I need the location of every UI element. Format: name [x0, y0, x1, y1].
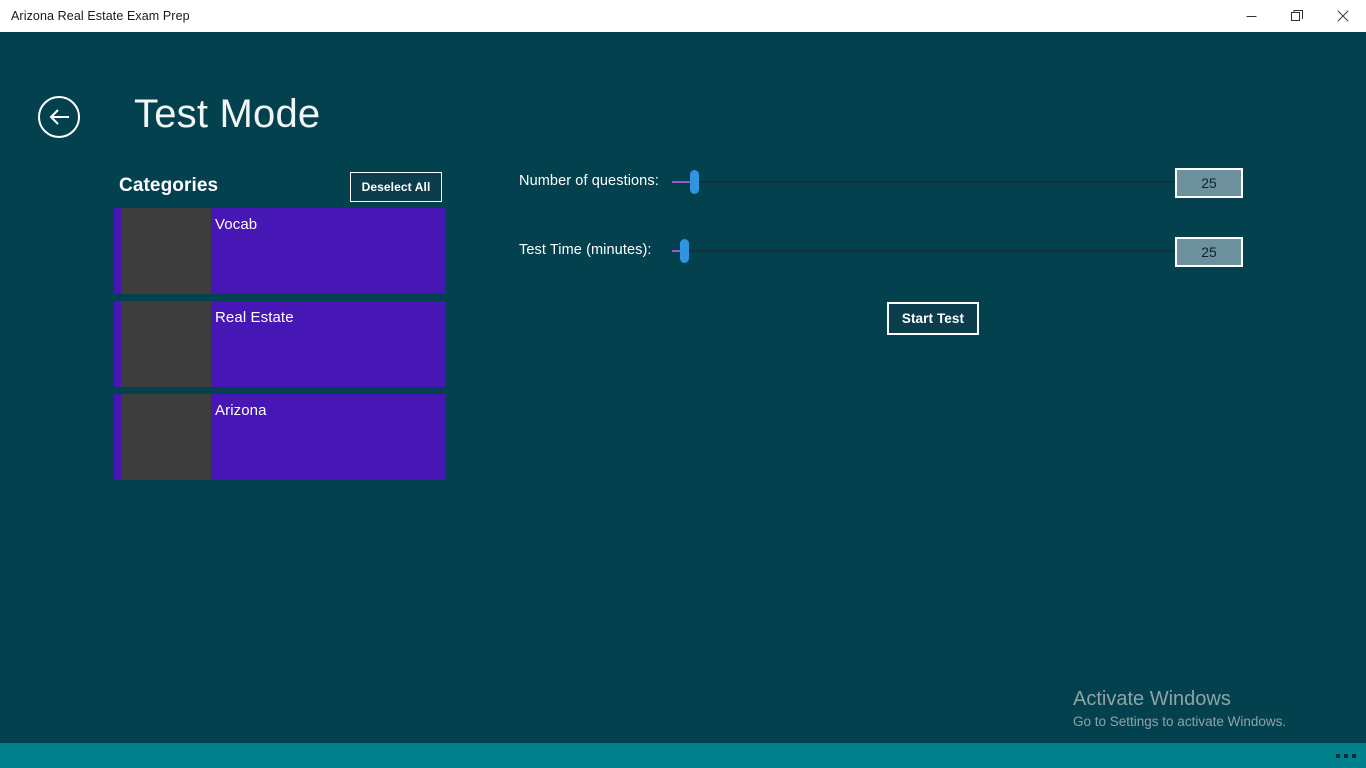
window-title: Arizona Real Estate Exam Prep [0, 9, 190, 23]
maximize-button[interactable] [1274, 0, 1320, 32]
restore-icon [1291, 10, 1303, 22]
watermark-subtitle: Go to Settings to activate Windows. [1073, 712, 1343, 732]
ellipsis-icon [1336, 754, 1340, 758]
category-thumbnail [121, 208, 211, 294]
test-time-slider[interactable] [672, 229, 1175, 273]
minimize-button[interactable] [1228, 0, 1274, 32]
slider-track [672, 250, 1175, 252]
category-item[interactable]: Real Estate [114, 301, 446, 387]
categories-list: Vocab Real Estate Arizona [114, 208, 446, 487]
page-title: Test Mode [134, 94, 320, 134]
slider-track [672, 181, 1175, 183]
category-thumbnail [121, 394, 211, 480]
test-time-row: Test Time (minutes): 25 [519, 229, 1279, 273]
bottom-app-bar [0, 743, 1366, 768]
category-label: Real Estate [215, 309, 294, 326]
deselect-all-button[interactable]: Deselect All [350, 172, 442, 202]
ellipsis-icon [1352, 754, 1356, 758]
test-time-label: Test Time (minutes): [519, 242, 652, 258]
slider-thumb[interactable] [680, 239, 689, 263]
category-label: Arizona [215, 402, 267, 419]
more-options-button[interactable] [1336, 743, 1356, 768]
close-button[interactable] [1320, 0, 1366, 32]
slider-thumb[interactable] [690, 170, 699, 194]
category-thumbnail [121, 301, 211, 387]
category-item[interactable]: Arizona [114, 394, 446, 480]
questions-slider[interactable] [672, 160, 1175, 204]
categories-heading: Categories [119, 175, 218, 197]
categories-header: Categories Deselect All [114, 172, 446, 204]
test-time-value[interactable]: 25 [1175, 237, 1243, 267]
page-header: Test Mode [0, 32, 1366, 122]
window-titlebar: Arizona Real Estate Exam Prep [0, 0, 1366, 32]
questions-value[interactable]: 25 [1175, 168, 1243, 198]
slider-track-fill [672, 181, 690, 183]
arrow-left-circle-icon [48, 108, 70, 126]
minimize-icon [1246, 11, 1257, 22]
category-item[interactable]: Vocab [114, 208, 446, 294]
categories-panel: Categories Deselect All Vocab Real Estat… [114, 172, 446, 204]
activate-windows-watermark: Activate Windows Go to Settings to activ… [1073, 686, 1343, 732]
close-icon [1337, 10, 1349, 22]
ellipsis-icon [1344, 754, 1348, 758]
test-settings-panel: Number of questions: 25 Test Time (minut… [519, 160, 1279, 298]
questions-row: Number of questions: 25 [519, 160, 1279, 204]
back-button[interactable] [38, 96, 80, 138]
watermark-title: Activate Windows [1073, 686, 1343, 712]
category-label: Vocab [215, 216, 257, 233]
start-test-button[interactable]: Start Test [887, 302, 979, 335]
questions-label: Number of questions: [519, 173, 659, 189]
app-window: Arizona Real Estate Exam Prep [0, 0, 1366, 768]
